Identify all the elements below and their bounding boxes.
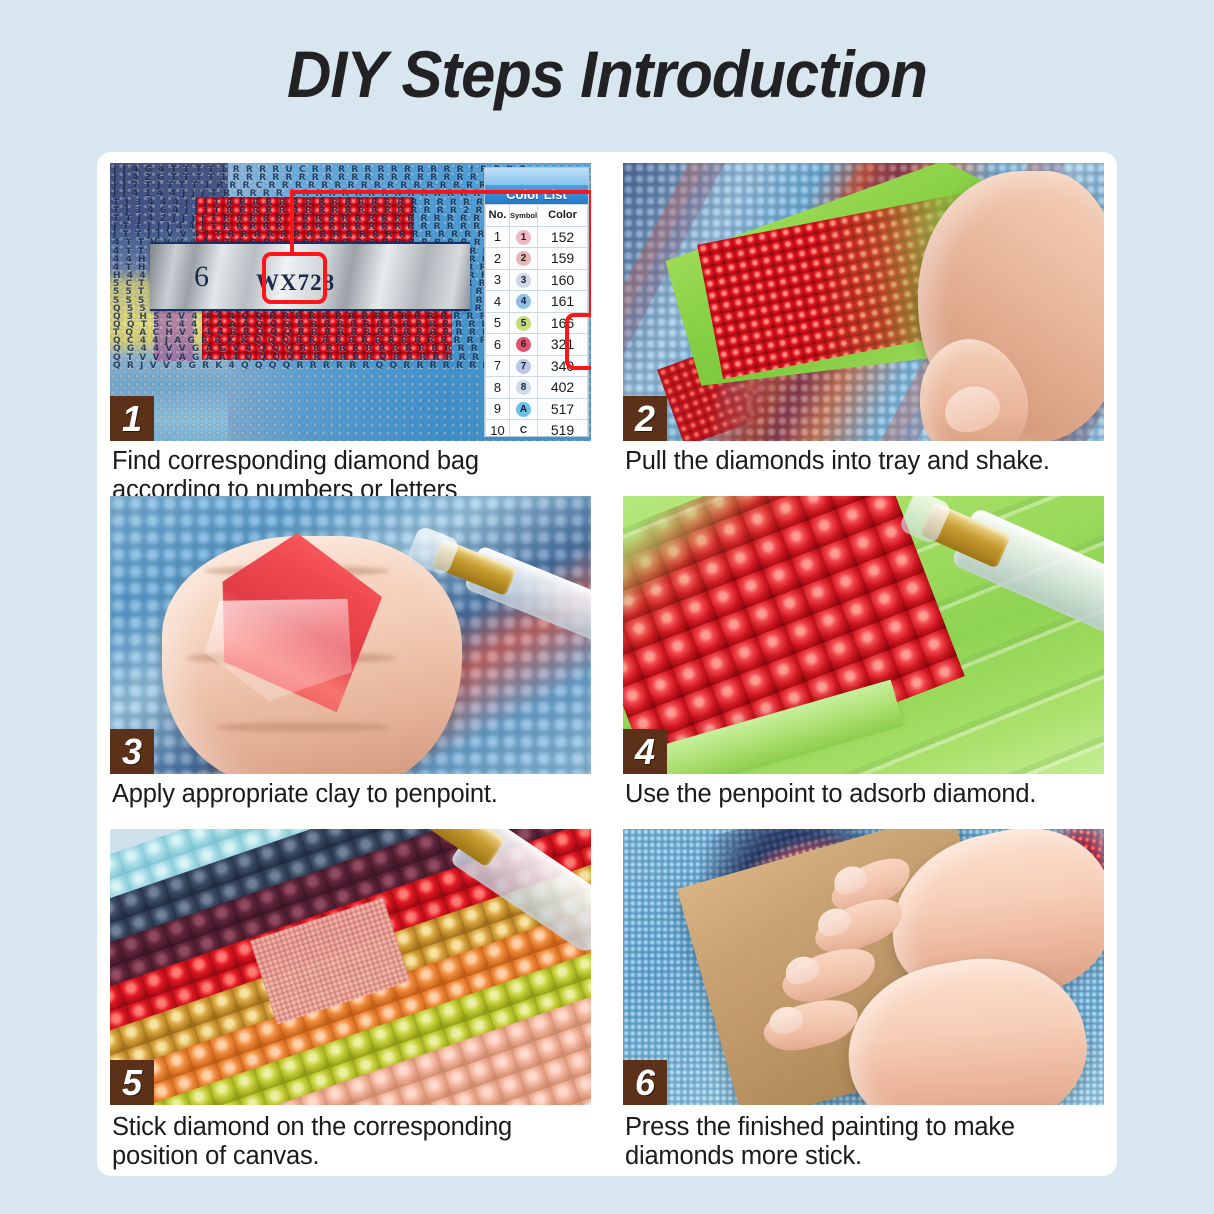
color-list-cell-color: 159 — [538, 248, 588, 270]
symbol-swatch: A — [516, 402, 531, 417]
color-list-cell-no: 7 — [486, 355, 510, 377]
callout-line-to-bag — [290, 190, 294, 256]
color-list-cell-symbol: 1 — [510, 226, 538, 248]
bag-number-label: 6 — [194, 260, 210, 294]
step-4-image: 4 — [623, 496, 1104, 774]
symbol-swatch: 7 — [516, 359, 531, 374]
color-list-cell-symbol: C — [510, 420, 538, 438]
finger-crease — [216, 722, 390, 732]
step-panel-1: J J 4 G 4 T T T T 1 R R R R U C R R R R … — [110, 163, 591, 496]
step-panel-4: 4 Use the penpoint to adsorb diamond. — [623, 496, 1104, 829]
step-panel-6: e Bool 6 Press the finished painting to … — [623, 829, 1104, 1165]
color-list-top-strip — [485, 168, 588, 185]
step-4-caption: Use the penpoint to adsorb diamond. — [625, 780, 1103, 809]
color-list-cell-symbol: 6 — [510, 334, 538, 356]
color-list-cell-color: 517 — [538, 398, 588, 420]
step-3-image: 3 — [110, 496, 591, 774]
step-2-image: 2 — [623, 163, 1104, 441]
callout-line-to-list — [589, 190, 591, 317]
step-6-caption: Press the finished painting to make diam… — [625, 1113, 1103, 1170]
steps-card: J J 4 G 4 T T T T 1 R R R R U C R R R R … — [97, 152, 1117, 1176]
color-list-cell-color: 160 — [538, 269, 588, 291]
color-list-col-no: No. — [486, 205, 510, 227]
color-list-cell-color: 519 — [538, 420, 588, 438]
color-list-cell-symbol: 2 — [510, 248, 538, 270]
color-list-cell-no: 10 — [486, 420, 510, 438]
callout-box-color-rows — [565, 313, 591, 370]
color-list-row: 9A517 — [486, 398, 588, 420]
color-list-row: 88402 — [486, 377, 588, 399]
color-list-col-color: Color — [538, 205, 588, 227]
step-panel-5: 5 Stick diamond on the corresponding pos… — [110, 829, 591, 1165]
symbol-swatch: 3 — [516, 273, 531, 288]
step-6-image: e Bool 6 — [623, 829, 1104, 1105]
symbol-swatch: 1 — [516, 230, 531, 245]
step-panel-3: 3 Apply appropriate clay to penpoint. — [110, 496, 591, 829]
color-list-cell-symbol: 3 — [510, 269, 538, 291]
color-list-row: 11152 — [486, 226, 588, 248]
steps-grid: J J 4 G 4 T T T T 1 R R R R U C R R R R … — [110, 163, 1104, 1165]
color-list-cell-color: 402 — [538, 377, 588, 399]
symbol-swatch: 8 — [516, 380, 531, 395]
step-badge-5: 5 — [110, 1060, 154, 1105]
color-list-cell-symbol: 7 — [510, 355, 538, 377]
step-5-image: 5 — [110, 829, 591, 1105]
step-1-image: J J 4 G 4 T T T T 1 R R R R U C R R R R … — [110, 163, 591, 441]
step-2-caption: Pull the diamonds into tray and shake. — [625, 447, 1103, 476]
color-list-header-row: No. Symbol Color — [486, 205, 588, 227]
color-list-cell-symbol: A — [510, 398, 538, 420]
color-list-cell-no: 4 — [486, 291, 510, 313]
color-list-cell-no: 3 — [486, 269, 510, 291]
color-list-cell-no: 1 — [486, 226, 510, 248]
color-list-cell-no: 5 — [486, 312, 510, 334]
symbol-swatch: 6 — [516, 337, 531, 352]
color-list-cell-no: 6 — [486, 334, 510, 356]
step-5-caption: Stick diamond on the corresponding posit… — [112, 1113, 590, 1170]
callout-box-bag-number — [262, 252, 327, 304]
color-list-cell-no: 8 — [486, 377, 510, 399]
symbol-swatch: 5 — [516, 316, 531, 331]
color-list-cell-color: 161 — [538, 291, 588, 313]
color-list-title: Color List — [485, 185, 588, 204]
color-list-cell-no: 2 — [486, 248, 510, 270]
color-list-card: Color List No. Symbol Color 111522215933… — [484, 167, 589, 437]
color-list-row: 44161 — [486, 291, 588, 313]
color-list-cell-symbol: 4 — [510, 291, 538, 313]
symbol-swatch: 4 — [516, 294, 531, 309]
color-list-row: 22159 — [486, 248, 588, 270]
color-list-col-symbol: Symbol — [510, 205, 538, 227]
symbol-swatch: C — [516, 423, 531, 437]
color-list-cell-symbol: 5 — [510, 312, 538, 334]
page-title: DIY Steps Introduction — [42, 36, 1171, 112]
color-list-row: 10C519 — [486, 420, 588, 438]
step-badge-3: 3 — [110, 729, 154, 774]
color-list-cell-symbol: 8 — [510, 377, 538, 399]
color-list-cell-no: 9 — [486, 398, 510, 420]
step-badge-4: 4 — [623, 729, 667, 774]
step-badge-1: 1 — [110, 396, 154, 441]
step-panel-2: 2 Pull the diamonds into tray and shake. — [623, 163, 1104, 496]
step-badge-2: 2 — [623, 396, 667, 441]
callout-line-horizontal — [290, 190, 591, 194]
color-list-cell-color: 152 — [538, 226, 588, 248]
step-badge-6: 6 — [623, 1060, 667, 1105]
step-3-caption: Apply appropriate clay to penpoint. — [112, 780, 590, 809]
symbol-swatch: 2 — [516, 251, 531, 266]
color-list-row: 33160 — [486, 269, 588, 291]
